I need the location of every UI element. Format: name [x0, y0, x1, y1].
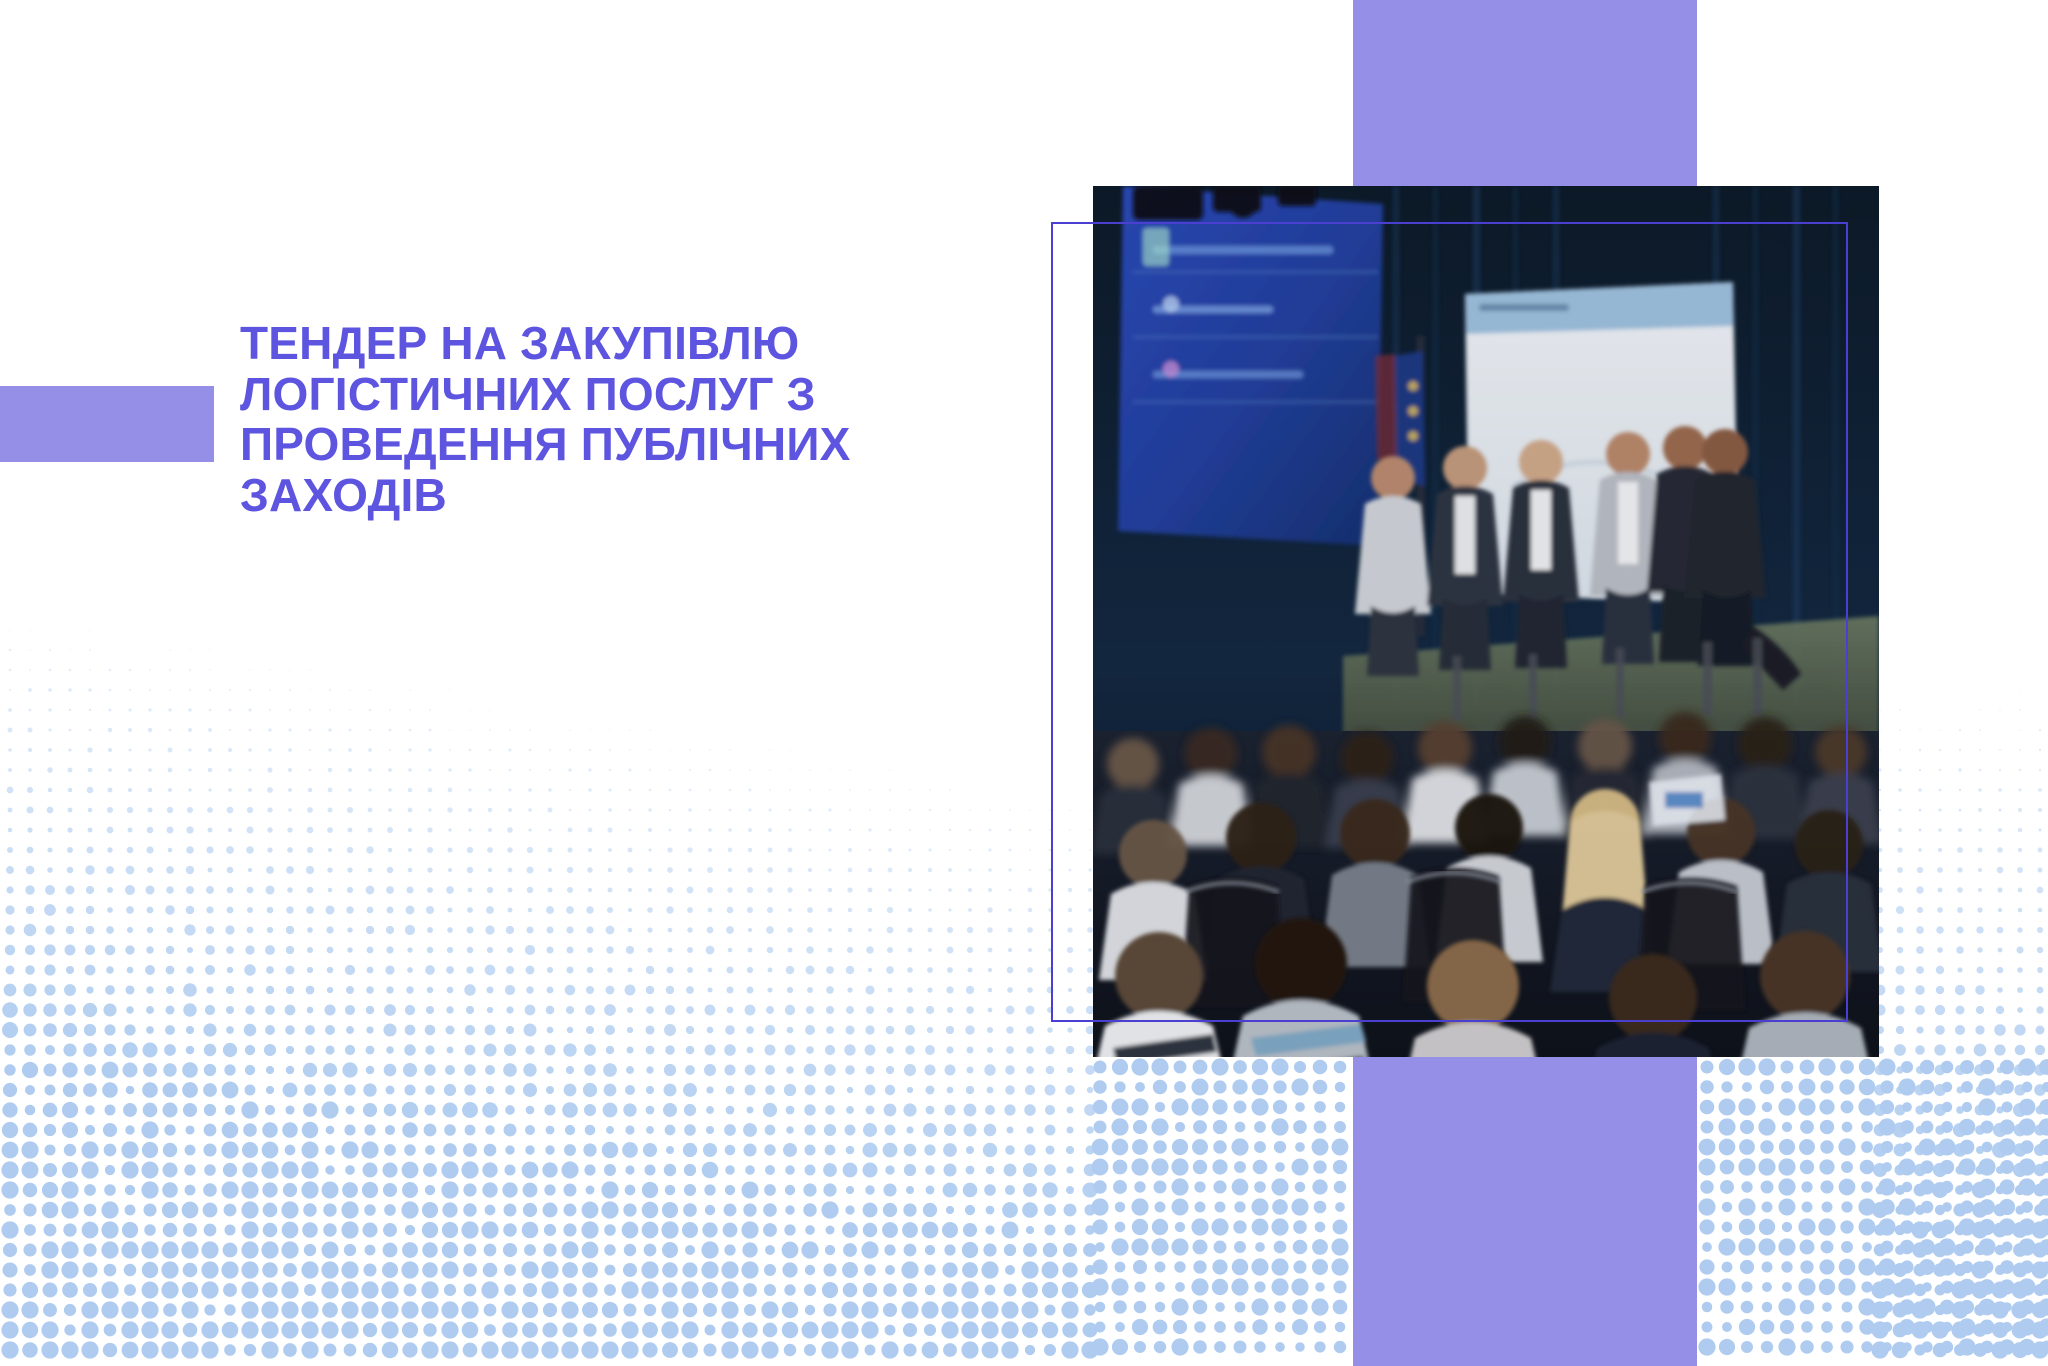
title-line-1: ТЕНДЕР НА ЗАКУПІВЛЮ: [240, 318, 960, 369]
halftone-dot-pattern-center-right: [1697, 1057, 2048, 1366]
halftone-dot-pattern-band-left: [1090, 1057, 1353, 1366]
halftone-dot-pattern-left: [0, 500, 1100, 1366]
conference-photo: [1093, 186, 1879, 1057]
halftone-dot-pattern-right: [1870, 480, 2048, 1366]
accent-rectangle: [0, 386, 214, 462]
page-title: ТЕНДЕР НА ЗАКУПІВЛЮ ЛОГІСТИЧНИХ ПОСЛУГ З…: [240, 318, 960, 520]
poster-canvas: ТЕНДЕР НА ЗАКУПІВЛЮ ЛОГІСТИЧНИХ ПОСЛУГ З…: [0, 0, 2048, 1366]
title-line-4: ЗАХОДІВ: [240, 470, 960, 521]
vertical-purple-band-top: [1353, 0, 1697, 189]
title-line-2: ЛОГІСТИЧНИХ ПОСЛУГ З: [240, 369, 960, 420]
title-line-3: ПРОВЕДЕННЯ ПУБЛІЧНИХ: [240, 419, 960, 470]
vertical-purple-band-bottom: [1353, 1057, 1697, 1366]
conference-photo-illustration: [1093, 186, 1879, 1057]
